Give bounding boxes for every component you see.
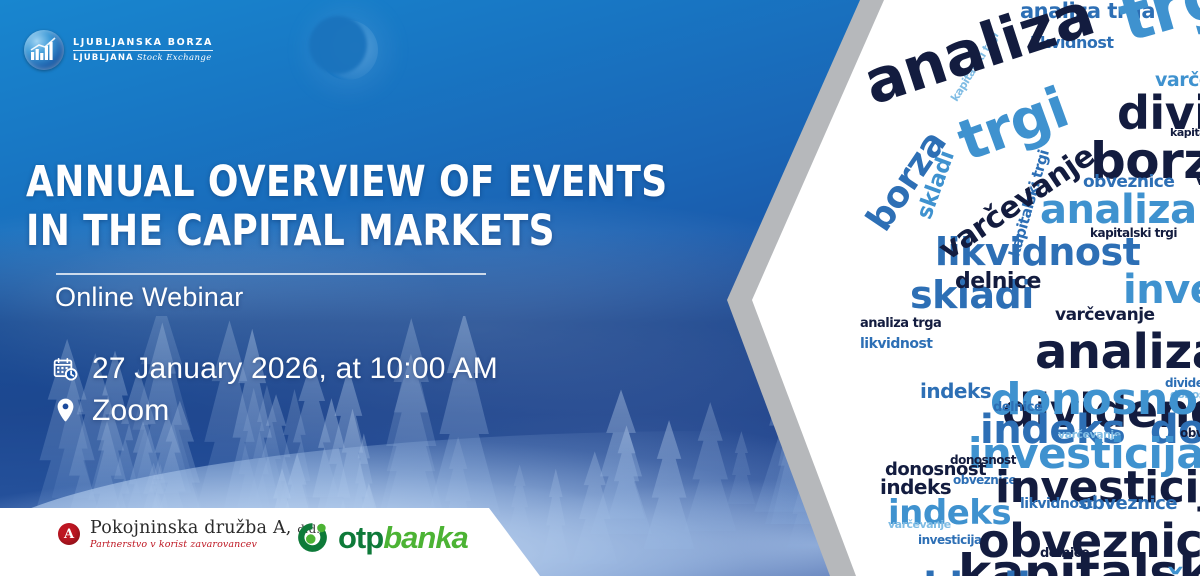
event-location-row: Zoom (52, 394, 170, 428)
word-cloud-item: likvidnost (860, 338, 932, 351)
title-line-1: ANNUAL OVERVIEW OF EVENTS (26, 158, 677, 207)
logo-line-2-bold: LJUBLJANA (73, 53, 134, 63)
sponsor-pokojninska-druzba-a[interactable]: Pokojninska družba A, d.d. Partnerstvo v… (58, 518, 320, 550)
word-cloud-item: varčevanje (888, 520, 951, 530)
word-cloud-item: obveznice (1080, 496, 1177, 513)
word-cloud-item: varčevanje (1090, 568, 1200, 576)
word-cloud-item: delnice (955, 272, 1041, 292)
word-cloud-item: kapitalski trgi (1090, 228, 1177, 239)
pokojninska-a-circle-icon (58, 523, 80, 545)
word-cloud-item: delnice (993, 402, 1042, 414)
title-line-2: IN THE CAPITAL MARKETS (26, 207, 677, 256)
logo-wordmark: LJUBLJANSKA BORZA LJUBLJANA Stock Exchan… (73, 37, 213, 64)
otp-c-circle-icon (296, 521, 329, 554)
globe-chart-icon (24, 30, 64, 70)
otp-wordmark-bold: otp (338, 520, 383, 555)
otp-wordmark-italic: banka (383, 520, 468, 555)
crescent-moon-icon (318, 20, 378, 80)
word-cloud-item: skladi (900, 570, 1030, 576)
sponsor-pd-name-main: Pokojninska družba A, (90, 518, 292, 538)
logo-line-2: LJUBLJANA Stock Exchange (73, 53, 213, 63)
sponsor-pd-name: Pokojninska družba A, d.d. (90, 518, 320, 538)
ljubljana-stock-exchange-logo[interactable]: LJUBLJANSKA BORZA LJUBLJANA Stock Exchan… (24, 30, 213, 70)
word-cloud-item: analiza (858, 0, 1100, 112)
calendar-clock-icon (52, 354, 78, 384)
sponsor-pd-tagline: Partnerstvo v korist zavarovancev (90, 539, 320, 550)
title-divider-rule (56, 273, 486, 275)
event-banner: analiza trgaborzadelnicelikvidnosttrgaob… (0, 0, 1200, 576)
word-cloud-item: investicija (1123, 272, 1200, 309)
otp-wordmark: otpbanka (338, 522, 468, 553)
event-date-row: 27 January 2026, at 10:00 AM (52, 352, 498, 386)
logo-line-1: LJUBLJANSKA BORZA (73, 37, 213, 51)
logo-line-2-italic: Stock Exchange (137, 53, 212, 63)
event-date-text: 27 January 2026, at 10:00 AM (92, 352, 498, 386)
page-title: ANNUAL OVERVIEW OF EVENTS IN THE CAPITAL… (26, 158, 677, 256)
word-cloud-item: varčevanje (1055, 308, 1155, 324)
word-cloud-item: analiza trga (860, 318, 941, 330)
sponsor-otp-banka[interactable]: otpbanka (296, 521, 468, 554)
word-cloud-item: analiza trga (1035, 330, 1200, 374)
word-cloud-item: trga (1113, 0, 1200, 50)
word-cloud-item: analiza trga (1040, 192, 1200, 229)
sponsor-pd-text: Pokojninska družba A, d.d. Partnerstvo v… (90, 518, 320, 550)
event-location-text: Zoom (92, 394, 170, 428)
event-subtitle: Online Webinar (55, 282, 243, 313)
word-cloud-item: indeks (920, 382, 991, 400)
map-pin-icon (52, 396, 78, 426)
